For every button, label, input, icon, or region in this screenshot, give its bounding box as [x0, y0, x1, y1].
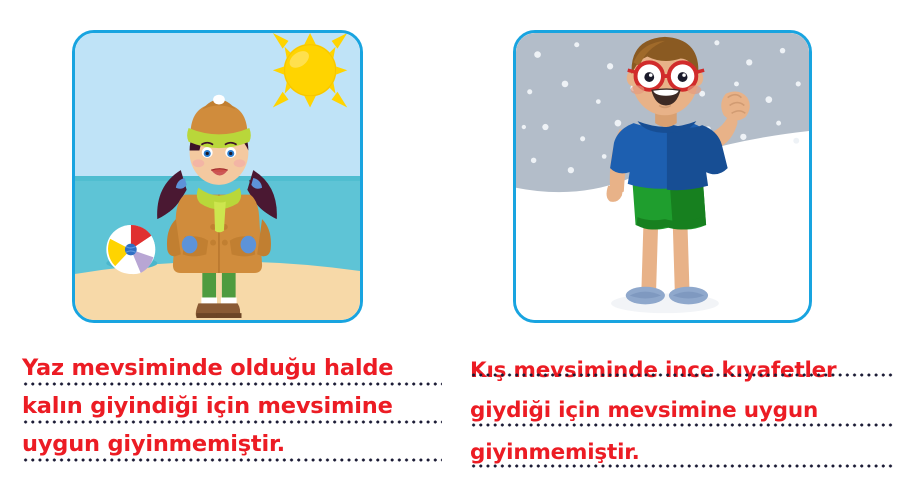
- snow-scene: [516, 33, 809, 320]
- dotted-rule: [22, 458, 442, 462]
- summer-picture-card: [72, 30, 363, 323]
- answer-line: Yaz mevsiminde olduğu halde: [22, 352, 442, 390]
- summer-answer-line-1: Yaz mevsiminde olduğu halde: [22, 352, 442, 385]
- answer-line: giyinmemiştir.: [470, 432, 895, 472]
- answer-line: giydiği için mevsimine uygun: [470, 392, 895, 432]
- summer-answer-line-2: kalın giyindiği için mevsimine: [22, 390, 442, 423]
- answer-line: uygun giyinmemiştir.: [22, 428, 442, 466]
- sun-icon: [273, 33, 347, 107]
- dotted-rule: [22, 420, 442, 424]
- summer-answer-line-3: uygun giyinmemiştir.: [22, 428, 442, 461]
- winter-answer-line-1: Kış mevsiminde ince kıyafetler: [470, 354, 895, 387]
- dotted-rule: [22, 382, 442, 386]
- left-leg: [641, 225, 658, 292]
- dotted-rule: [470, 464, 895, 468]
- answer-line: Kış mevsiminde ince kıyafetler: [470, 352, 895, 392]
- beach-scene: [75, 33, 360, 320]
- dotted-rule: [470, 423, 895, 427]
- winter-picture-card: [513, 30, 812, 323]
- summer-answer-block: Yaz mevsiminde olduğu halde kalın giyind…: [22, 352, 442, 466]
- winter-answer-block: Kış mevsiminde ince kıyafetler giydiği i…: [470, 352, 895, 472]
- right-leg: [673, 225, 690, 292]
- left-mitten: [182, 236, 198, 254]
- waving-hand: [721, 92, 750, 121]
- dotted-rule: [470, 373, 895, 377]
- right-mitten: [241, 236, 257, 254]
- answer-line: kalın giyindiği için mevsimine: [22, 390, 442, 428]
